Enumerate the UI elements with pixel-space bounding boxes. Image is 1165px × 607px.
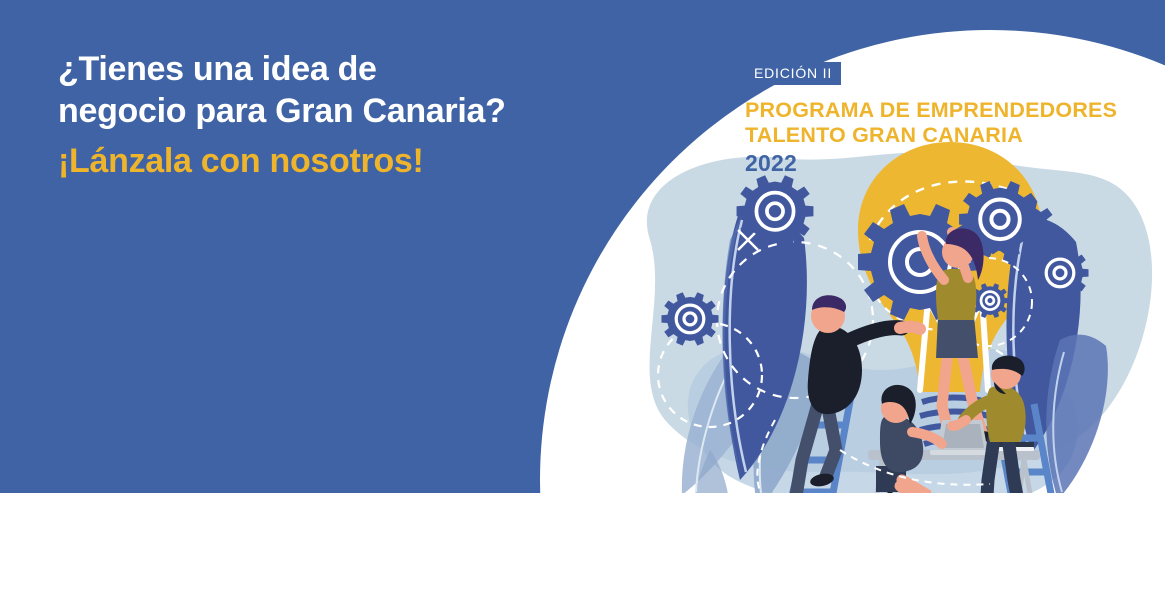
program-title-line-2: TALENTO GRAN CANARIA: [745, 123, 1117, 148]
laptop-base: [930, 450, 994, 455]
edition-badge: EDICIÓN II: [745, 62, 841, 85]
headline-line-2: negocio para Gran Canaria?: [58, 90, 578, 132]
program-year: 2022: [745, 151, 1117, 176]
hand: [952, 420, 966, 426]
entrepreneurship-illustration: [590, 120, 1165, 520]
skirt: [936, 316, 978, 358]
footer-logo-bar: Cabildo de Gran Canaria spegc Sociedad d…: [0, 493, 1165, 607]
program-title-line-1: PROGRAMA DE EMPRENDEDORES: [745, 98, 1117, 123]
promotional-banner: ¿Tienes una idea de negocio para Gran Ca…: [0, 0, 1165, 607]
hand: [900, 327, 920, 329]
headline: ¿Tienes una idea de negocio para Gran Ca…: [58, 48, 578, 182]
leaf-shape: [1046, 335, 1108, 500]
headline-line-1: ¿Tienes una idea de: [58, 48, 578, 90]
program-title-block: EDICIÓN II PROGRAMA DE EMPRENDEDORES TAL…: [745, 62, 1117, 176]
headline-line-3: ¡Lánzala con nosotros!: [58, 140, 578, 182]
program-title: PROGRAMA DE EMPRENDEDORES TALENTO GRAN C…: [745, 98, 1117, 176]
